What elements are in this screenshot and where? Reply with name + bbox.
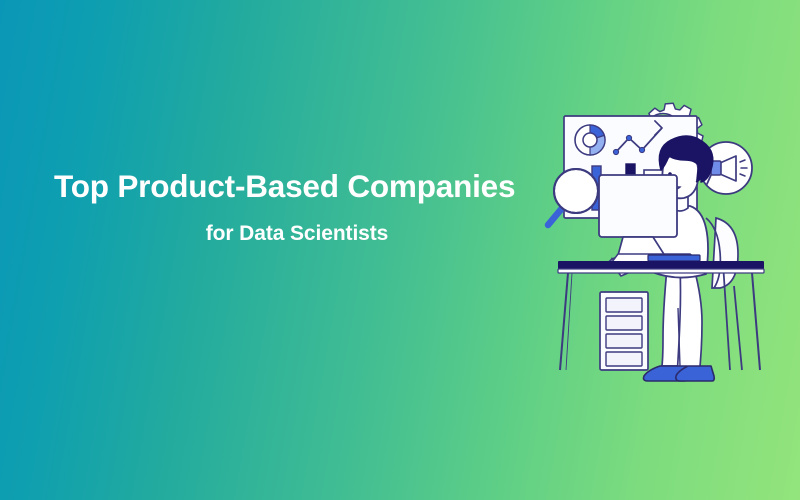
banner: Top Product-Based Companies for Data Sci… [0, 0, 800, 500]
chair [712, 218, 742, 370]
illustration-svg [520, 58, 800, 398]
page-title: Top Product-Based Companies [54, 168, 540, 204]
keyboard [612, 254, 700, 262]
hero-illustration [520, 58, 800, 398]
page-subtitle: for Data Scientists [54, 222, 540, 246]
donut-chart [575, 125, 605, 155]
filing-cabinet [600, 292, 648, 370]
text-block: Top Product-Based Companies for Data Sci… [54, 168, 540, 246]
shoes [644, 366, 715, 381]
